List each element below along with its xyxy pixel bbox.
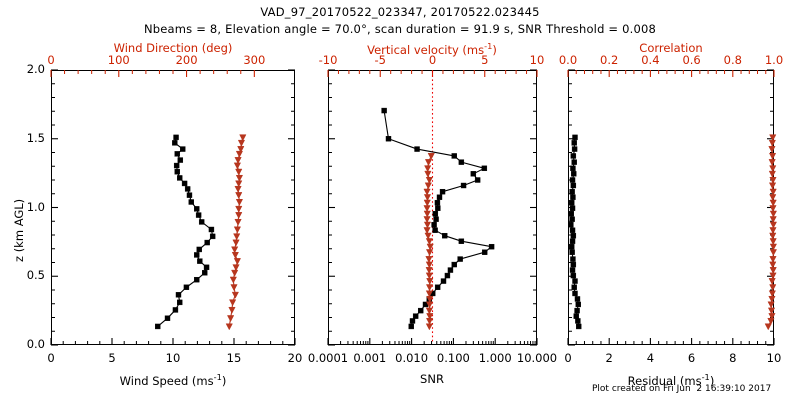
- data-point: [236, 192, 242, 198]
- data-point: [572, 147, 577, 152]
- data-point: [240, 135, 246, 141]
- data-point: [180, 147, 185, 152]
- data-point: [445, 273, 450, 278]
- data-point: [568, 222, 573, 227]
- x-top-tick-label-p2-4: 10: [530, 53, 545, 67]
- y-tick-label-2: 1.0: [27, 200, 45, 214]
- data-point: [769, 146, 775, 152]
- data-point: [194, 206, 199, 211]
- x-top-tick-label-p2-3: 5: [481, 53, 488, 67]
- data-point: [182, 181, 187, 186]
- data-point: [441, 279, 446, 284]
- x-tick-label-p3-1: 2: [606, 351, 613, 365]
- data-point: [424, 227, 430, 233]
- data-point: [236, 212, 242, 218]
- data-point: [236, 181, 242, 187]
- data-point: [165, 316, 170, 321]
- data-point: [194, 277, 199, 282]
- series-3-1: [765, 135, 777, 330]
- data-point: [769, 291, 775, 297]
- series-3-0: [568, 135, 581, 329]
- data-point: [175, 169, 180, 174]
- data-point: [234, 234, 240, 240]
- data-point: [573, 291, 578, 296]
- data-point: [176, 292, 181, 297]
- series-2-0: [382, 108, 494, 329]
- data-point: [768, 318, 774, 324]
- data-point: [435, 206, 440, 211]
- data-point: [425, 183, 431, 189]
- y-tick-label-0: 0.0: [27, 337, 45, 351]
- data-point: [235, 186, 241, 192]
- x-tick-label-p1-0: 0: [47, 351, 54, 365]
- data-point: [205, 240, 210, 245]
- data-point: [570, 228, 575, 233]
- data-point: [572, 160, 577, 165]
- data-point: [232, 292, 238, 298]
- data-point: [424, 194, 430, 200]
- data-point: [437, 195, 442, 200]
- x-tick-label-p2-3: 0.100: [437, 351, 470, 365]
- data-point: [765, 324, 771, 330]
- data-point: [231, 285, 237, 291]
- data-point: [458, 257, 463, 262]
- data-point: [202, 270, 207, 275]
- data-point: [231, 247, 237, 253]
- x-top-tick-label-p3-1: 0.2: [600, 53, 618, 67]
- y-tick-label-4: 2.0: [27, 62, 45, 76]
- data-point: [461, 183, 466, 188]
- data-point: [576, 302, 581, 307]
- data-point: [187, 193, 192, 198]
- x-tick-label-p3-4: 8: [729, 351, 736, 365]
- data-point: [769, 140, 775, 146]
- data-point: [769, 153, 775, 159]
- data-point: [769, 278, 775, 284]
- y-tick-label-3: 1.5: [27, 131, 45, 145]
- x-top-tick-label-p2-2: 0: [429, 53, 436, 67]
- data-point: [426, 262, 432, 268]
- data-point: [433, 228, 438, 233]
- data-point: [199, 219, 204, 224]
- data-point: [570, 257, 575, 262]
- data-point: [770, 222, 776, 228]
- x-top-tick-label-p1-1: 100: [108, 53, 130, 67]
- data-point: [573, 279, 578, 284]
- data-point: [571, 262, 576, 267]
- data-point: [569, 200, 574, 205]
- data-point: [770, 166, 776, 172]
- x-top-tick-label-p1-2: 200: [176, 53, 198, 67]
- data-point: [435, 285, 440, 290]
- data-point: [424, 200, 430, 206]
- data-point: [413, 314, 418, 319]
- data-point: [572, 140, 577, 145]
- x-top-tick-label-p3-2: 0.4: [641, 53, 659, 67]
- data-point: [572, 285, 577, 290]
- data-point: [569, 244, 574, 249]
- data-point: [770, 211, 776, 217]
- data-point: [570, 206, 575, 211]
- x-top-tick-label-p3-4: 0.8: [724, 53, 742, 67]
- data-point: [573, 135, 578, 140]
- data-point: [475, 178, 480, 183]
- data-point: [482, 250, 487, 255]
- data-point: [770, 194, 776, 200]
- data-point: [435, 200, 440, 205]
- data-point: [173, 307, 178, 312]
- data-point: [442, 233, 447, 238]
- data-point: [571, 153, 576, 158]
- data-point: [769, 183, 775, 189]
- data-point: [204, 265, 209, 270]
- data-point: [424, 216, 430, 222]
- data-point: [432, 222, 437, 227]
- data-point: [426, 308, 432, 314]
- x-tick-label-p2-1: 0.001: [353, 351, 386, 365]
- data-point: [235, 157, 241, 163]
- data-point: [226, 324, 232, 330]
- data-point: [234, 163, 240, 169]
- data-point: [236, 175, 242, 181]
- data-point: [210, 234, 215, 239]
- data-point: [425, 171, 431, 177]
- data-point: [769, 171, 775, 177]
- data-point: [233, 265, 239, 271]
- data-point: [574, 314, 579, 319]
- x-tick-label-p1-1: 5: [108, 351, 115, 365]
- data-point: [440, 189, 445, 194]
- data-point: [770, 233, 776, 239]
- data-point: [434, 217, 439, 222]
- data-point: [471, 171, 476, 176]
- data-point: [197, 259, 202, 264]
- data-point: [185, 186, 190, 191]
- data-point: [571, 183, 576, 188]
- data-point: [234, 258, 240, 264]
- data-point: [197, 247, 202, 252]
- data-point: [569, 211, 574, 216]
- data-point: [576, 324, 581, 329]
- data-point: [236, 151, 242, 157]
- data-point: [570, 217, 575, 222]
- data-point: [575, 296, 580, 301]
- data-point: [425, 233, 431, 239]
- data-point: [234, 227, 240, 233]
- x-tick-label-p3-0: 0: [564, 351, 571, 365]
- data-point: [433, 211, 438, 216]
- data-point: [426, 324, 432, 330]
- data-point: [196, 213, 201, 218]
- data-point: [418, 308, 423, 313]
- data-point: [428, 153, 434, 159]
- data-point: [426, 267, 432, 273]
- data-point: [570, 189, 575, 194]
- x-tick-label-p2-0: 0.0001: [308, 351, 348, 365]
- data-point: [489, 244, 494, 249]
- data-point: [184, 285, 189, 290]
- data-point: [768, 302, 774, 308]
- data-point: [426, 273, 432, 279]
- x-top-tick-label-p1-0: 0: [47, 53, 54, 67]
- data-point: [426, 249, 432, 255]
- data-point: [570, 178, 575, 183]
- data-point: [230, 277, 236, 283]
- data-point: [231, 270, 237, 276]
- data-point: [571, 233, 576, 238]
- x-tick-label-p3-2: 4: [647, 351, 654, 365]
- x-tick-label-p1-2: 10: [166, 351, 181, 365]
- data-point: [452, 153, 457, 158]
- data-point: [770, 256, 776, 262]
- data-point: [229, 307, 235, 313]
- series-1-0: [155, 135, 215, 329]
- data-point: [575, 318, 580, 323]
- series-1-1: [226, 135, 246, 330]
- data-point: [175, 151, 180, 156]
- data-point: [178, 158, 183, 163]
- x-tick-label-p2-2: 0.010: [395, 351, 428, 365]
- series-line-wind-speed: [158, 137, 213, 326]
- x-top-tick-label-p3-3: 0.6: [682, 53, 700, 67]
- data-point: [424, 222, 430, 228]
- data-point: [427, 244, 433, 250]
- data-point: [194, 252, 199, 257]
- data-point: [769, 296, 775, 302]
- data-point: [570, 166, 575, 171]
- data-point: [177, 175, 182, 180]
- data-point: [410, 318, 415, 323]
- data-point: [575, 308, 580, 313]
- data-point: [770, 267, 776, 273]
- data-point: [769, 159, 775, 165]
- data-point: [571, 171, 576, 176]
- data-point: [386, 136, 391, 141]
- data-point: [174, 163, 179, 168]
- data-point: [770, 200, 776, 206]
- data-point: [424, 166, 430, 172]
- x-top-tick-label-p1-3: 300: [243, 53, 265, 67]
- data-point: [426, 285, 432, 291]
- data-point: [448, 268, 453, 273]
- x-tick-label-p1-4: 20: [288, 351, 303, 365]
- data-point: [382, 108, 387, 113]
- data-point: [209, 227, 214, 232]
- data-point: [232, 252, 238, 258]
- data-point: [177, 300, 182, 305]
- data-point: [570, 268, 575, 273]
- data-point: [770, 262, 776, 268]
- data-point: [426, 177, 432, 183]
- data-point: [770, 205, 776, 211]
- x-top-tick-label-p3-0: 0.0: [559, 53, 577, 67]
- data-point: [770, 135, 776, 141]
- data-point: [189, 200, 194, 205]
- data-point: [236, 199, 242, 205]
- data-point: [452, 262, 457, 267]
- data-point: [155, 324, 160, 329]
- x-tick-label-p2-4: 1.000: [479, 351, 512, 365]
- data-point: [172, 140, 177, 145]
- data-point: [424, 211, 430, 217]
- data-point: [459, 239, 464, 244]
- data-point: [233, 240, 239, 246]
- x-top-tick-label-p3-5: 1.0: [765, 53, 783, 67]
- data-point: [570, 195, 575, 200]
- data-point: [570, 250, 575, 255]
- data-point: [174, 135, 179, 140]
- data-point: [571, 273, 576, 278]
- x-tick-label-p1-3: 15: [227, 351, 242, 365]
- data-point: [238, 140, 244, 146]
- vad-plot-figure: VAD_97_20170522_023347, 20170522.023445 …: [0, 0, 800, 400]
- data-point: [770, 227, 776, 233]
- y-tick-label-1: 0.5: [27, 268, 45, 282]
- x-top-tick-label-p2-1: -5: [375, 53, 386, 67]
- x-top-tick-label-p2-0: -10: [319, 53, 338, 67]
- data-point: [426, 256, 432, 262]
- data-point: [229, 300, 235, 306]
- data-point: [227, 315, 233, 321]
- data-point: [426, 238, 432, 244]
- data-point: [570, 239, 575, 244]
- data-point: [770, 238, 776, 244]
- data-point: [425, 159, 431, 165]
- x-tick-label-p3-3: 6: [688, 351, 695, 365]
- data-point: [424, 189, 430, 195]
- data-point: [236, 169, 242, 175]
- data-point: [415, 147, 420, 152]
- x-tick-label-p2-5: 10.000: [517, 351, 557, 365]
- data-point: [459, 160, 464, 165]
- data-point: [424, 205, 430, 211]
- data-point: [409, 324, 414, 329]
- data-point: [768, 308, 774, 314]
- data-point: [236, 206, 242, 212]
- x-tick-label-p3-5: 10: [767, 351, 782, 365]
- data-point: [235, 219, 241, 225]
- data-point: [482, 166, 487, 171]
